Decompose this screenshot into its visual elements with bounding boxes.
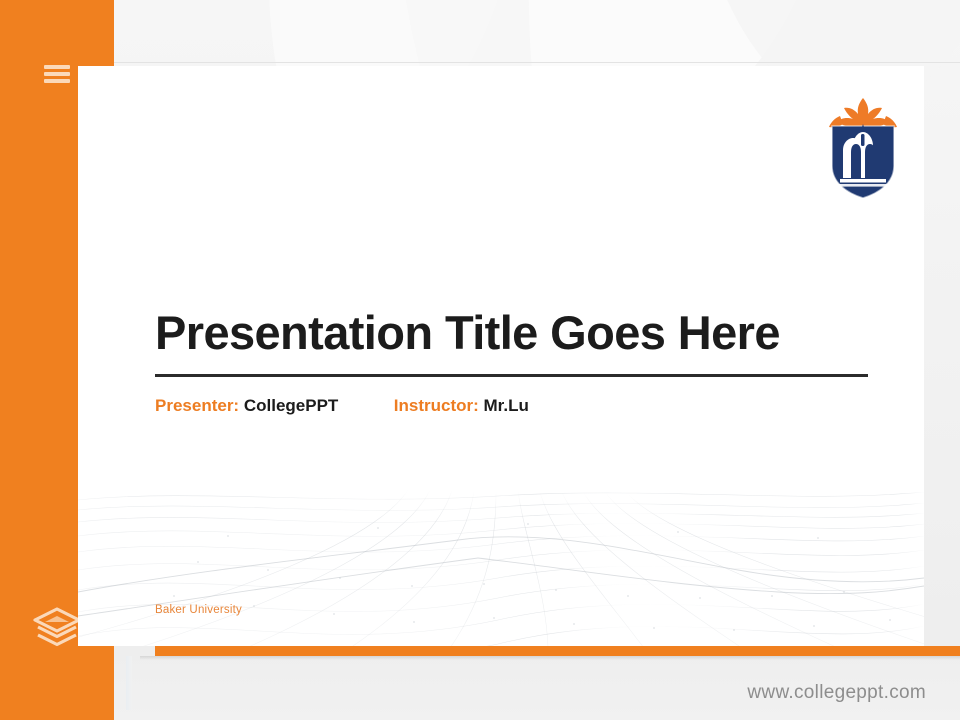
organization-name: Baker University xyxy=(155,604,242,616)
page-title: Presentation Title Goes Here xyxy=(155,309,869,358)
instructor-value: Mr.Lu xyxy=(484,396,529,415)
title-block: Presentation Title Goes Here Presenter: … xyxy=(155,309,869,416)
slide-stage: Presentation Title Goes Here Presenter: … xyxy=(0,0,960,720)
wireframe-mesh-background xyxy=(78,466,924,646)
site-url: www.collegeppt.com xyxy=(747,682,926,704)
orange-accent-bar xyxy=(155,646,960,656)
presenter-value: CollegePPT xyxy=(244,396,338,415)
title-underline-rule xyxy=(155,374,868,377)
background-divider-line xyxy=(0,62,960,63)
menu-bar-3 xyxy=(44,79,70,83)
slide-left-edge-highlight xyxy=(126,656,132,710)
orange-bar-shadow xyxy=(140,656,960,660)
byline: Presenter: CollegePPT Instructor: Mr.Lu xyxy=(155,396,869,416)
instructor-label: Instructor: xyxy=(394,396,479,415)
baker-university-crest xyxy=(820,94,906,202)
menu-bar-1 xyxy=(44,65,70,69)
menu-bar-2 xyxy=(44,72,70,76)
presentation-slide: Presentation Title Goes Here Presenter: … xyxy=(78,66,924,646)
presenter-label: Presenter: xyxy=(155,396,239,415)
